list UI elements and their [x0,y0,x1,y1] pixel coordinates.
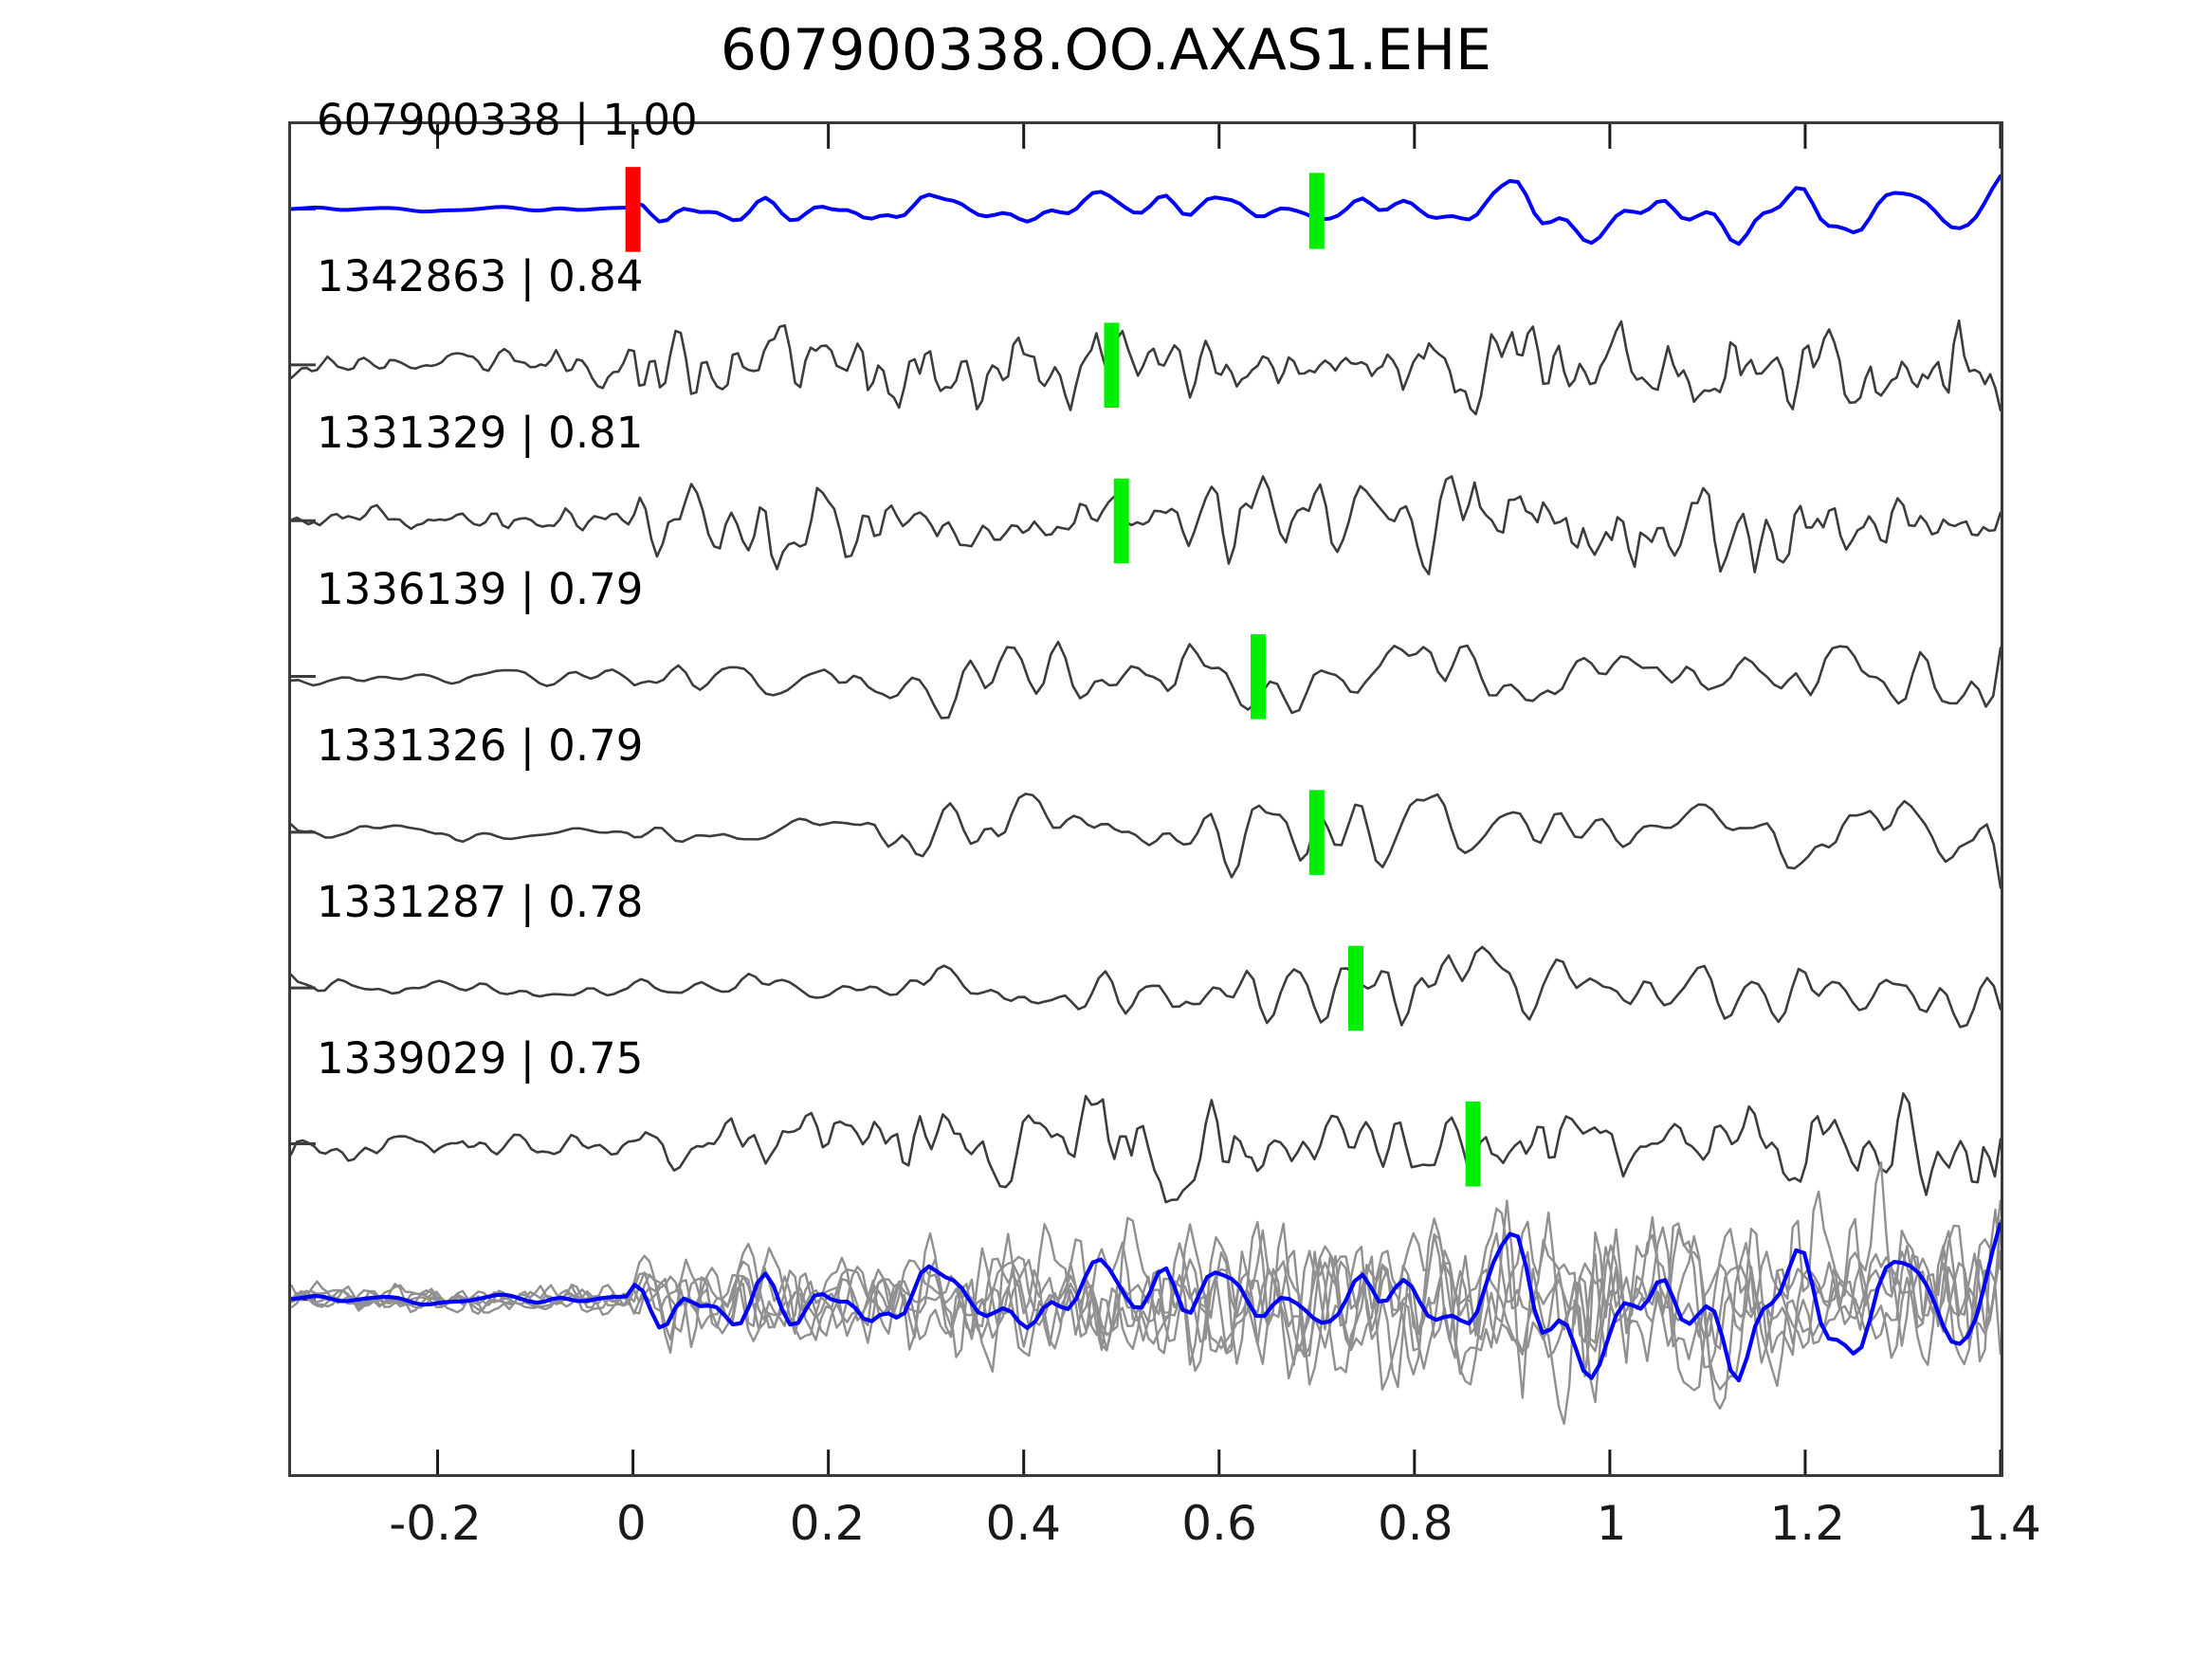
x-tick-label-0: -0.2 [389,1496,482,1551]
waveform-trace-607900338 [291,176,2001,245]
detection-pick-marker-1331329 [1114,479,1129,564]
page-title: 607900338.OO.AXAS1.EHE [0,17,2212,83]
x-tick-label-6: 1 [1597,1496,1627,1551]
waveform-trace-1339029 [291,1093,2001,1202]
x-tick-label-3: 0.4 [986,1496,1062,1551]
template-pick-marker-607900338 [626,167,641,252]
trace-label-1336139: 1336139 | 0.79 [317,564,643,614]
waveform-trace-1331287 [291,947,2001,1027]
trace-label-1331287: 1331287 | 0.78 [317,877,643,927]
detection-pick-marker-1342863 [1104,322,1119,408]
waveform-trace-1331329 [291,476,2001,574]
waveform-canvas [291,124,2001,1474]
x-axis-tick-labels: -0.200.20.40.60.811.21.4 [0,1496,2212,1572]
x-tick-label-5: 0.8 [1378,1496,1453,1551]
x-tick-label-2: 0.2 [790,1496,866,1551]
trace-label-1331329: 1331329 | 0.81 [317,408,643,458]
detection-pick-marker-1336139 [1251,634,1266,720]
detection-pick-marker-1339029 [1466,1102,1481,1187]
trace-label-1331326: 1331326 | 0.79 [317,720,643,771]
trace-label-1339029: 1339029 | 0.75 [317,1033,643,1084]
x-tick-label-1: 0 [616,1496,647,1551]
detection-pick-marker-1331326 [1309,790,1325,875]
x-tick-label-7: 1.2 [1769,1496,1845,1551]
trace-label-607900338: 607900338 | 1.00 [317,95,698,145]
x-tick-label-4: 0.6 [1181,1496,1257,1551]
x-tick-label-8: 1.4 [1965,1496,2041,1551]
waveform-trace-1331326 [291,793,2001,887]
trace-label-1342863: 1342863 | 0.84 [317,251,643,301]
waveform-trace-1342863 [291,320,2001,414]
detection-pick-marker-1331287 [1348,946,1363,1031]
waveform-trace-1336139 [291,642,2001,718]
figure-root: 607900338.OO.AXAS1.EHE 607900338 | 1.001… [0,0,2212,1659]
plot-area [288,121,2003,1477]
detection-pick-marker-607900338 [1309,173,1325,248]
